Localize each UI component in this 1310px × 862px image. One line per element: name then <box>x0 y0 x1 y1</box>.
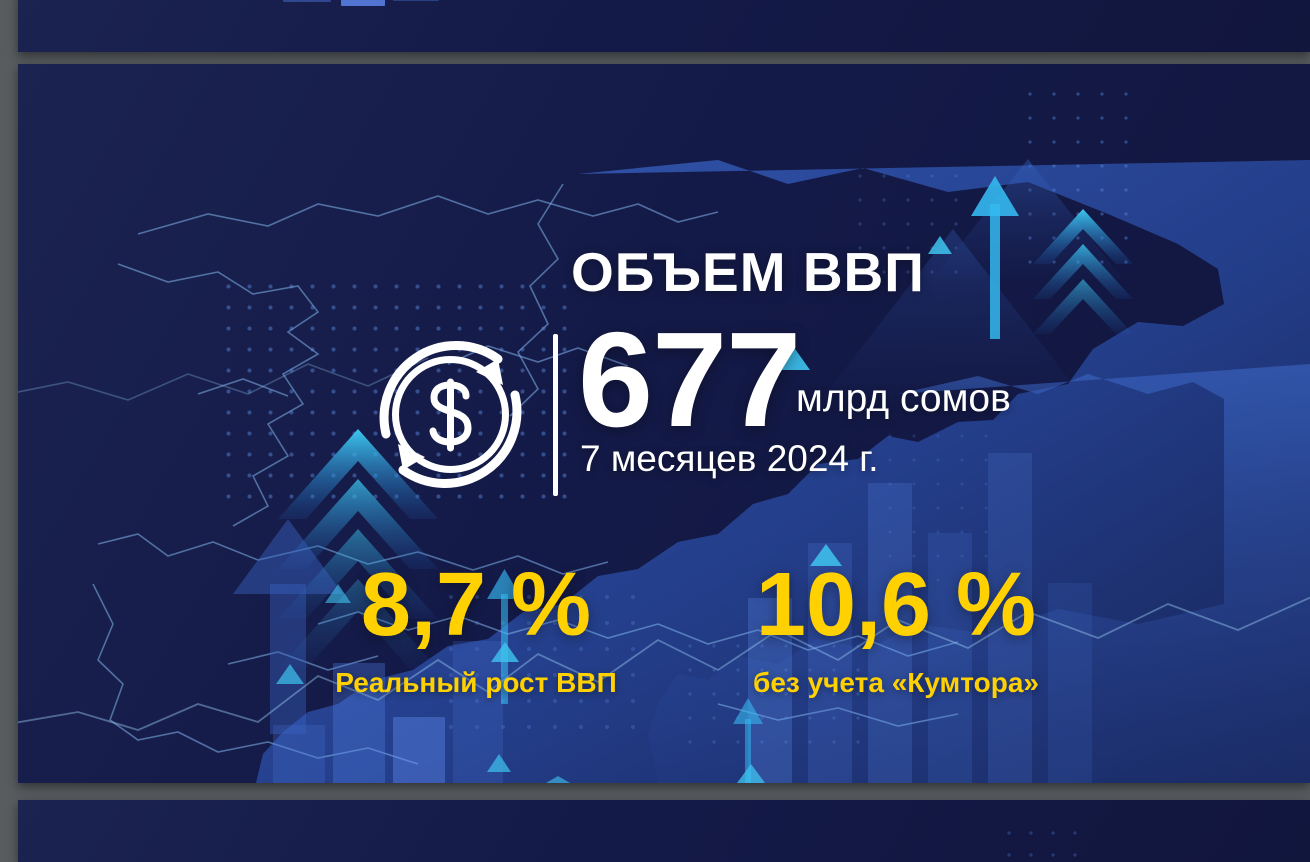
gdp-period: 7 месяцев 2024 г. <box>580 438 879 480</box>
previous-slide-panel[interactable] <box>18 0 1310 52</box>
main-slide-panel[interactable]: ОБЪЕМ ВВП <box>18 64 1310 783</box>
stat-real-growth: 8,7 % Реальный рост ВВП <box>286 558 666 699</box>
page-title: ОБЪЕМ ВВП <box>571 240 925 304</box>
bar-shape <box>393 0 439 1</box>
dot-grid-pattern <box>998 822 1088 862</box>
gdp-unit: млрд сомов <box>796 377 1011 421</box>
next-slide-panel[interactable] <box>18 800 1310 862</box>
stat-value: 10,6 % <box>708 558 1084 653</box>
vertical-divider <box>553 334 558 496</box>
previous-slide-artwork <box>18 0 1310 52</box>
bar-shape <box>341 0 385 6</box>
next-slide-artwork <box>18 800 1310 862</box>
stat-without-kumtor: 10,6 % без учета «Кумтора» <box>708 558 1084 699</box>
slide-deck: ОБЪЕМ ВВП <box>0 0 1310 856</box>
slide-content: ОБЪЕМ ВВП <box>18 64 1310 783</box>
gdp-value: 677 <box>578 312 800 447</box>
stat-label: без учета «Кумтора» <box>708 667 1084 699</box>
stat-label: Реальный рост ВВП <box>286 667 666 699</box>
bar-shape <box>283 0 331 2</box>
stat-value: 8,7 % <box>286 558 666 653</box>
dollar-refresh-icon <box>358 322 543 507</box>
